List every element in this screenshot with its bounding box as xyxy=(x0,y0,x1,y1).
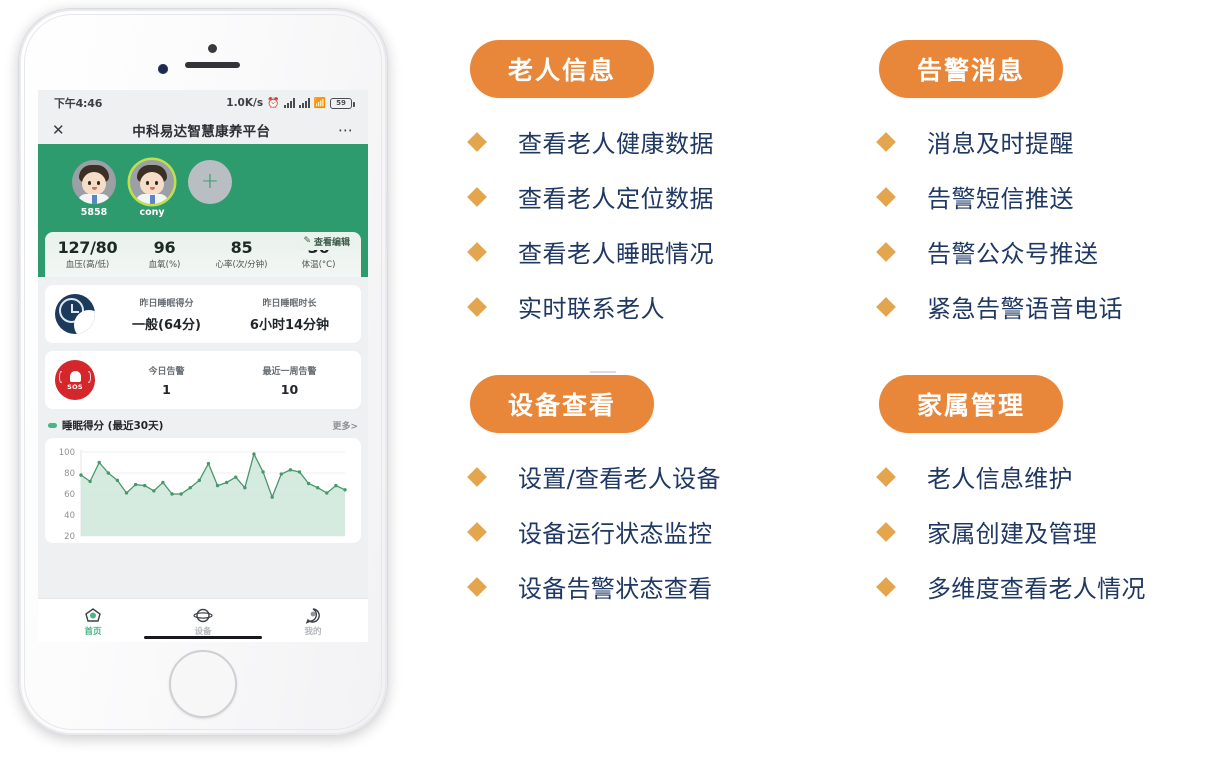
alarm-icon: ⏰ xyxy=(267,98,279,109)
diamond-bullet-icon xyxy=(467,132,487,152)
list-item[interactable]: 紧急告警语音电话 xyxy=(879,289,1123,324)
avatar-selected[interactable] xyxy=(130,160,174,204)
diamond-bullet-icon xyxy=(467,187,487,207)
sleep-card-columns: 昨日睡眠得分 一般(64分) 昨日睡眠时长 6小时14分钟 xyxy=(105,296,351,333)
today-alarm-label: 今日告警 xyxy=(105,364,228,377)
today-alarm-value: 1 xyxy=(105,382,228,397)
list-item[interactable]: 消息及时提醒 xyxy=(879,124,1123,159)
week-alarm-label: 最近一周告警 xyxy=(228,364,351,377)
today-alarm-column: 今日告警 1 xyxy=(105,364,228,397)
list-item[interactable]: 查看老人健康数据 xyxy=(470,124,714,159)
phone-silent-switch xyxy=(17,158,20,184)
profile-icon xyxy=(303,607,323,624)
diamond-bullet-icon xyxy=(876,467,896,487)
tab-device[interactable]: 设备 xyxy=(148,607,258,637)
decorative-tick xyxy=(590,371,616,373)
list-item[interactable]: 老人信息维护 xyxy=(879,459,1146,494)
list-item[interactable]: 多维度查看老人情况 xyxy=(879,569,1146,604)
section-bullet-list: 查看老人健康数据 查看老人定位数据 查看老人睡眠情况 实时联系老人 xyxy=(470,124,714,324)
svg-text:40: 40 xyxy=(64,511,75,521)
list-item[interactable]: 查看老人定位数据 xyxy=(470,179,714,214)
list-item-label: 消息及时提醒 xyxy=(927,124,1074,159)
tab-device-label: 设备 xyxy=(148,625,258,637)
week-alarm-value: 10 xyxy=(228,382,351,397)
list-item[interactable]: 家属创建及管理 xyxy=(879,514,1146,549)
tab-home[interactable]: 首页 xyxy=(38,607,148,637)
diamond-bullet-icon xyxy=(876,132,896,152)
section-device-view: 设备查看 设置/查看老人设备 设备运行状态监控 设备告警状态查看 xyxy=(470,375,721,624)
section-alarm-message: 告警消息 消息及时提醒 告警短信推送 告警公众号推送 紧急告警语音电话 xyxy=(879,40,1123,344)
wifi-icon: 📶 xyxy=(314,98,326,109)
sleep-score-column: 昨日睡眠得分 一般(64分) xyxy=(105,296,228,333)
sleep-card[interactable]: 昨日睡眠得分 一般(64分) 昨日睡眠时长 6小时14分钟 xyxy=(45,285,361,343)
view-edit-button[interactable]: ✎ 查看编辑 xyxy=(295,232,358,250)
list-item-label: 告警公众号推送 xyxy=(927,234,1099,269)
signal-bars-icon-2 xyxy=(299,98,310,108)
diamond-bullet-icon xyxy=(876,522,896,542)
section-title-badge[interactable]: 告警消息 xyxy=(879,40,1063,98)
tab-profile-label: 我的 xyxy=(258,625,368,637)
avatar-item-cony[interactable]: cony xyxy=(130,160,174,218)
list-item-label: 实时联系老人 xyxy=(518,289,665,324)
vital-heart-rate[interactable]: 85 心率(次/分钟) xyxy=(203,238,280,270)
page-root: 下午4:46 1.0K/s ⏰ 📶 59 ✕ 中科易达智慧康养平台 ⋯ xyxy=(0,0,1215,775)
app-nav-bar: ✕ 中科易达智慧康养平台 ⋯ xyxy=(38,116,368,144)
phone-volume-up-button xyxy=(17,204,20,246)
vital-value: 85 xyxy=(203,238,280,257)
vital-blood-pressure[interactable]: 127/80 血压(高/低) xyxy=(49,238,126,270)
list-item-label: 老人信息维护 xyxy=(927,459,1073,494)
tab-profile[interactable]: 我的 xyxy=(258,607,368,637)
home-indicator xyxy=(144,636,262,639)
feature-sections: 老人信息 查看老人健康数据 查看老人定位数据 查看老人睡眠情况 实时联系老人 xyxy=(452,0,1215,775)
hero-section: 5858 cony + ✎ xyxy=(38,144,368,277)
front-camera-icon xyxy=(158,64,168,74)
list-item[interactable]: 查看老人睡眠情况 xyxy=(470,234,714,269)
vital-label: 体温(°C) xyxy=(280,258,357,270)
list-item-label: 家属创建及管理 xyxy=(927,514,1097,549)
more-dots-icon[interactable]: ⋯ xyxy=(338,123,354,138)
section-elder-info: 老人信息 查看老人健康数据 查看老人定位数据 查看老人睡眠情况 实时联系老人 xyxy=(470,40,714,344)
list-item[interactable]: 设置/查看老人设备 xyxy=(470,459,721,494)
app-title: 中科易达智慧康养平台 xyxy=(65,120,338,140)
avatar-item-5858[interactable]: 5858 xyxy=(72,160,116,218)
moon-clock-icon xyxy=(55,294,95,334)
sleep-chart-section: 睡眠得分 (最近30天) 更多> 10080604020 xyxy=(45,418,361,543)
vital-label: 心率(次/分钟) xyxy=(203,258,280,270)
vital-value: 96 xyxy=(126,238,203,257)
pencil-icon: ✎ xyxy=(303,236,311,246)
list-item-label: 紧急告警语音电话 xyxy=(927,289,1123,324)
status-bar: 下午4:46 1.0K/s ⏰ 📶 59 xyxy=(38,90,368,116)
status-bar-indicators: 1.0K/s ⏰ 📶 59 xyxy=(226,97,352,109)
sleep-chart-title: 睡眠得分 (最近30天) xyxy=(62,418,163,433)
view-edit-label: 查看编辑 xyxy=(314,235,350,248)
section-title-badge[interactable]: 家属管理 xyxy=(879,375,1063,433)
device-icon xyxy=(193,607,213,624)
sleep-chart-svg: 10080604020 xyxy=(47,444,351,542)
week-alarm-column: 最近一周告警 10 xyxy=(228,364,351,397)
tab-home-label: 首页 xyxy=(38,625,148,637)
vital-value: 127/80 xyxy=(49,238,126,257)
alarm-card-columns: 今日告警 1 最近一周告警 10 xyxy=(105,364,351,397)
avatar-label: 5858 xyxy=(72,207,116,218)
avatar[interactable] xyxy=(72,160,116,204)
proximity-sensor-icon xyxy=(208,44,217,53)
home-icon xyxy=(83,607,103,624)
diamond-bullet-icon xyxy=(467,242,487,262)
plus-icon[interactable]: + xyxy=(188,160,232,204)
section-title-badge[interactable]: 设备查看 xyxy=(470,375,654,433)
diamond-bullet-icon xyxy=(467,297,487,317)
home-button[interactable] xyxy=(169,650,237,718)
network-speed-label: 1.0K/s xyxy=(226,97,263,109)
close-icon[interactable]: ✕ xyxy=(52,123,65,138)
battery-icon: 59 xyxy=(330,98,352,109)
svg-text:20: 20 xyxy=(64,532,75,542)
phone-volume-down-button xyxy=(17,258,20,300)
vital-label: 血压(高/低) xyxy=(49,258,126,270)
list-item-label: 告警短信推送 xyxy=(927,179,1074,214)
alarm-card[interactable]: SOS 今日告警 1 最近一周告警 10 xyxy=(45,351,361,409)
list-item-label: 查看老人健康数据 xyxy=(518,124,714,159)
list-item[interactable]: 告警公众号推送 xyxy=(879,234,1123,269)
sleep-chart-header: 睡眠得分 (最近30天) 更多> xyxy=(45,418,361,438)
diamond-bullet-icon xyxy=(467,522,487,542)
sleep-duration-label: 昨日睡眠时长 xyxy=(228,296,351,309)
add-elder-button[interactable]: + xyxy=(188,160,232,204)
section-family-management: 家属管理 老人信息维护 家属创建及管理 多维度查看老人情况 xyxy=(879,375,1146,624)
section-bullet-list: 老人信息维护 家属创建及管理 多维度查看老人情况 xyxy=(879,459,1146,604)
legend-dot-icon xyxy=(48,423,57,428)
sleep-score-label: 昨日睡眠得分 xyxy=(105,296,228,309)
list-item-label: 设备告警状态查看 xyxy=(518,569,712,604)
phone-mockup: 下午4:46 1.0K/s ⏰ 📶 59 ✕ 中科易达智慧康养平台 ⋯ xyxy=(18,8,388,736)
phone-screen: 下午4:46 1.0K/s ⏰ 📶 59 ✕ 中科易达智慧康养平台 ⋯ xyxy=(38,90,368,642)
section-bullet-list: 设置/查看老人设备 设备运行状态监控 设备告警状态查看 xyxy=(470,459,721,604)
list-item[interactable]: 设备告警状态查看 xyxy=(470,569,721,604)
earpiece-speaker xyxy=(185,62,240,68)
list-item[interactable]: 告警短信推送 xyxy=(879,179,1123,214)
list-item-label: 查看老人睡眠情况 xyxy=(518,234,714,269)
diamond-bullet-icon xyxy=(876,297,896,317)
list-item-label: 设置/查看老人设备 xyxy=(518,459,721,494)
list-item[interactable]: 设备运行状态监控 xyxy=(470,514,721,549)
diamond-bullet-icon xyxy=(467,467,487,487)
diamond-bullet-icon xyxy=(876,242,896,262)
chart-more-link[interactable]: 更多> xyxy=(332,419,358,432)
avatar-label: cony xyxy=(130,207,174,218)
content-sheet: 昨日睡眠得分 一般(64分) 昨日睡眠时长 6小时14分钟 SOS xyxy=(38,285,368,543)
list-item-label: 设备运行状态监控 xyxy=(518,514,712,549)
vital-label: 血氧(%) xyxy=(126,258,203,270)
signal-bars-icon xyxy=(284,98,295,108)
svg-text:80: 80 xyxy=(64,469,75,479)
diamond-bullet-icon xyxy=(467,577,487,597)
diamond-bullet-icon xyxy=(876,187,896,207)
status-bar-time: 下午4:46 xyxy=(54,95,102,111)
vital-blood-oxygen[interactable]: 96 血氧(%) xyxy=(126,238,203,270)
list-item-label: 查看老人定位数据 xyxy=(518,179,714,214)
phone-power-button xyxy=(386,194,389,250)
sleep-duration-value: 6小时14分钟 xyxy=(228,314,351,333)
section-bullet-list: 消息及时提醒 告警短信推送 告警公众号推送 紧急告警语音电话 xyxy=(879,124,1123,324)
list-item[interactable]: 实时联系老人 xyxy=(470,289,714,324)
list-item-label: 多维度查看老人情况 xyxy=(927,569,1146,604)
svg-text:60: 60 xyxy=(64,490,75,500)
sleep-duration-column: 昨日睡眠时长 6小时14分钟 xyxy=(228,296,351,333)
avatar-list: 5858 cony + xyxy=(38,154,368,218)
sos-bell-icon: SOS xyxy=(55,360,95,400)
svg-text:100: 100 xyxy=(59,448,75,458)
bottom-tab-bar: 首页 设备 xyxy=(38,598,368,642)
diamond-bullet-icon xyxy=(876,577,896,597)
sleep-score-value: 一般(64分) xyxy=(105,314,228,333)
section-title-badge[interactable]: 老人信息 xyxy=(470,40,654,98)
sleep-chart[interactable]: 10080604020 xyxy=(45,438,361,543)
